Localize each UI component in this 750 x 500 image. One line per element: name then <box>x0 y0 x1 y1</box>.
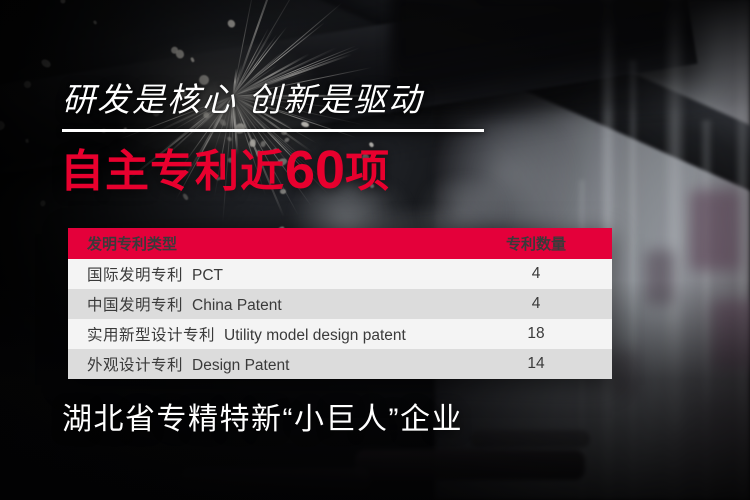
headline-patent-count: 自主专利近60项 <box>60 142 390 200</box>
title-divider <box>62 129 484 132</box>
patent-type-zh: 实用新型设计专利 <box>87 327 215 344</box>
patent-type-zh: 中国发明专利 <box>87 297 183 314</box>
cell-patent-count: 4 <box>476 265 612 283</box>
cell-patent-type: 外观设计专利Design Patent <box>68 353 476 375</box>
table-header-row: 发明专利类型 专利数量 <box>68 228 612 259</box>
patent-promo-poster: 研发是核心 创新是驱动 自主专利近60项 发明专利类型 专利数量 国际发明专利P… <box>0 0 750 500</box>
patent-type-en: Design Patent <box>192 357 289 374</box>
footer-tagline: 湖北省专精特新“小巨人”企业 <box>62 400 463 440</box>
patent-type-en: Utility model design patent <box>224 327 406 344</box>
headline-number: 60 <box>285 140 345 200</box>
table-row: 国际发明专利PCT4 <box>68 259 612 289</box>
cell-patent-count: 14 <box>476 355 612 373</box>
headline-prefix: 自主专利近 <box>60 147 285 196</box>
patent-type-en: PCT <box>192 267 223 284</box>
table-row: 实用新型设计专利Utility model design patent18 <box>68 319 612 349</box>
patent-type-zh: 外观设计专利 <box>87 357 183 374</box>
cell-patent-count: 4 <box>476 295 612 313</box>
patent-type-zh: 国际发明专利 <box>87 267 183 284</box>
cell-patent-type: 国际发明专利PCT <box>68 263 476 285</box>
cell-patent-type: 中国发明专利China Patent <box>68 293 476 315</box>
table-body: 国际发明专利PCT4中国发明专利China Patent4实用新型设计专利Uti… <box>68 259 612 379</box>
table-row: 外观设计专利Design Patent14 <box>68 349 612 379</box>
page-title: 研发是核心 创新是驱动 <box>62 80 423 120</box>
patent-table: 发明专利类型 专利数量 国际发明专利PCT4中国发明专利China Patent… <box>68 228 612 379</box>
headline-suffix: 项 <box>345 147 390 196</box>
patent-type-en: China Patent <box>192 297 282 314</box>
cell-patent-type: 实用新型设计专利Utility model design patent <box>68 323 476 345</box>
poster-content: 研发是核心 创新是驱动 自主专利近60项 发明专利类型 专利数量 国际发明专利P… <box>0 0 750 500</box>
column-header-type: 发明专利类型 <box>68 233 476 254</box>
column-header-count: 专利数量 <box>476 233 612 254</box>
cell-patent-count: 18 <box>476 325 612 343</box>
table-row: 中国发明专利China Patent4 <box>68 289 612 319</box>
